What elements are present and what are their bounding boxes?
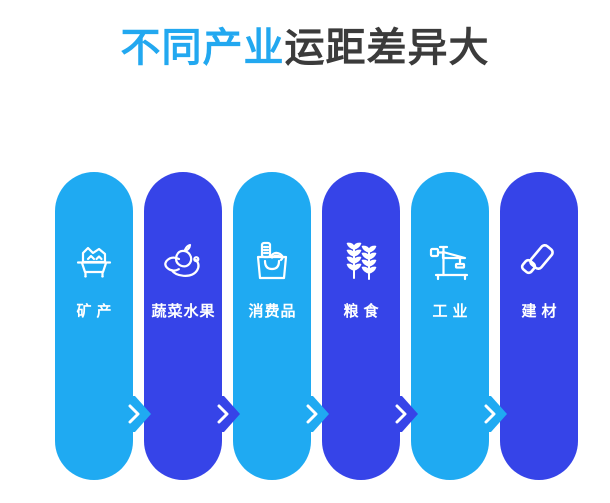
chevron-right-icon xyxy=(306,404,319,424)
chevron-right-icon xyxy=(395,404,408,424)
industry-pill-industry[interactable]: 工业 xyxy=(411,172,489,480)
industry-pill-row: 矿产 蔬菜水果 xyxy=(55,172,575,482)
mine-cart-icon xyxy=(55,234,133,288)
industry-pill-building-materials[interactable]: 建材 xyxy=(500,172,578,480)
connector-arrow-mineral-to-produce xyxy=(125,396,151,432)
page-title-dark: 运距差异大 xyxy=(285,26,490,70)
infographic-canvas: 不同产业运距差异大 矿产 xyxy=(0,0,610,503)
industry-pill-grain[interactable]: 粮食 xyxy=(322,172,400,480)
bricks-icon xyxy=(500,234,578,288)
connector-arrow-consumer-to-grain xyxy=(303,396,329,432)
industry-pill-label: 建材 xyxy=(500,300,578,321)
crane-icon xyxy=(411,234,489,288)
industry-pill-produce[interactable]: 蔬菜水果 xyxy=(144,172,222,480)
industry-pill-label: 矿产 xyxy=(55,300,133,321)
connector-arrow-grain-to-industry xyxy=(392,396,418,432)
industry-pill-label: 消费品 xyxy=(233,300,311,321)
shopping-bag-icon xyxy=(233,234,311,288)
fruit-vegetable-icon xyxy=(144,234,222,288)
industry-pill-mineral[interactable]: 矿产 xyxy=(55,172,133,480)
chevron-right-icon xyxy=(128,404,141,424)
industry-pill-label: 工业 xyxy=(411,300,489,321)
industry-pill-label: 蔬菜水果 xyxy=(144,300,222,321)
page-title-accent: 不同产业 xyxy=(121,26,285,70)
chevron-right-icon xyxy=(217,404,230,424)
wheat-icon xyxy=(322,234,400,288)
industry-pill-label: 粮食 xyxy=(322,300,400,321)
industry-pill-consumer-goods[interactable]: 消费品 xyxy=(233,172,311,480)
chevron-right-icon xyxy=(484,404,497,424)
page-title: 不同产业运距差异大 xyxy=(0,24,610,72)
connector-arrow-produce-to-consumer xyxy=(214,396,240,432)
connector-arrow-industry-to-materials xyxy=(481,396,507,432)
